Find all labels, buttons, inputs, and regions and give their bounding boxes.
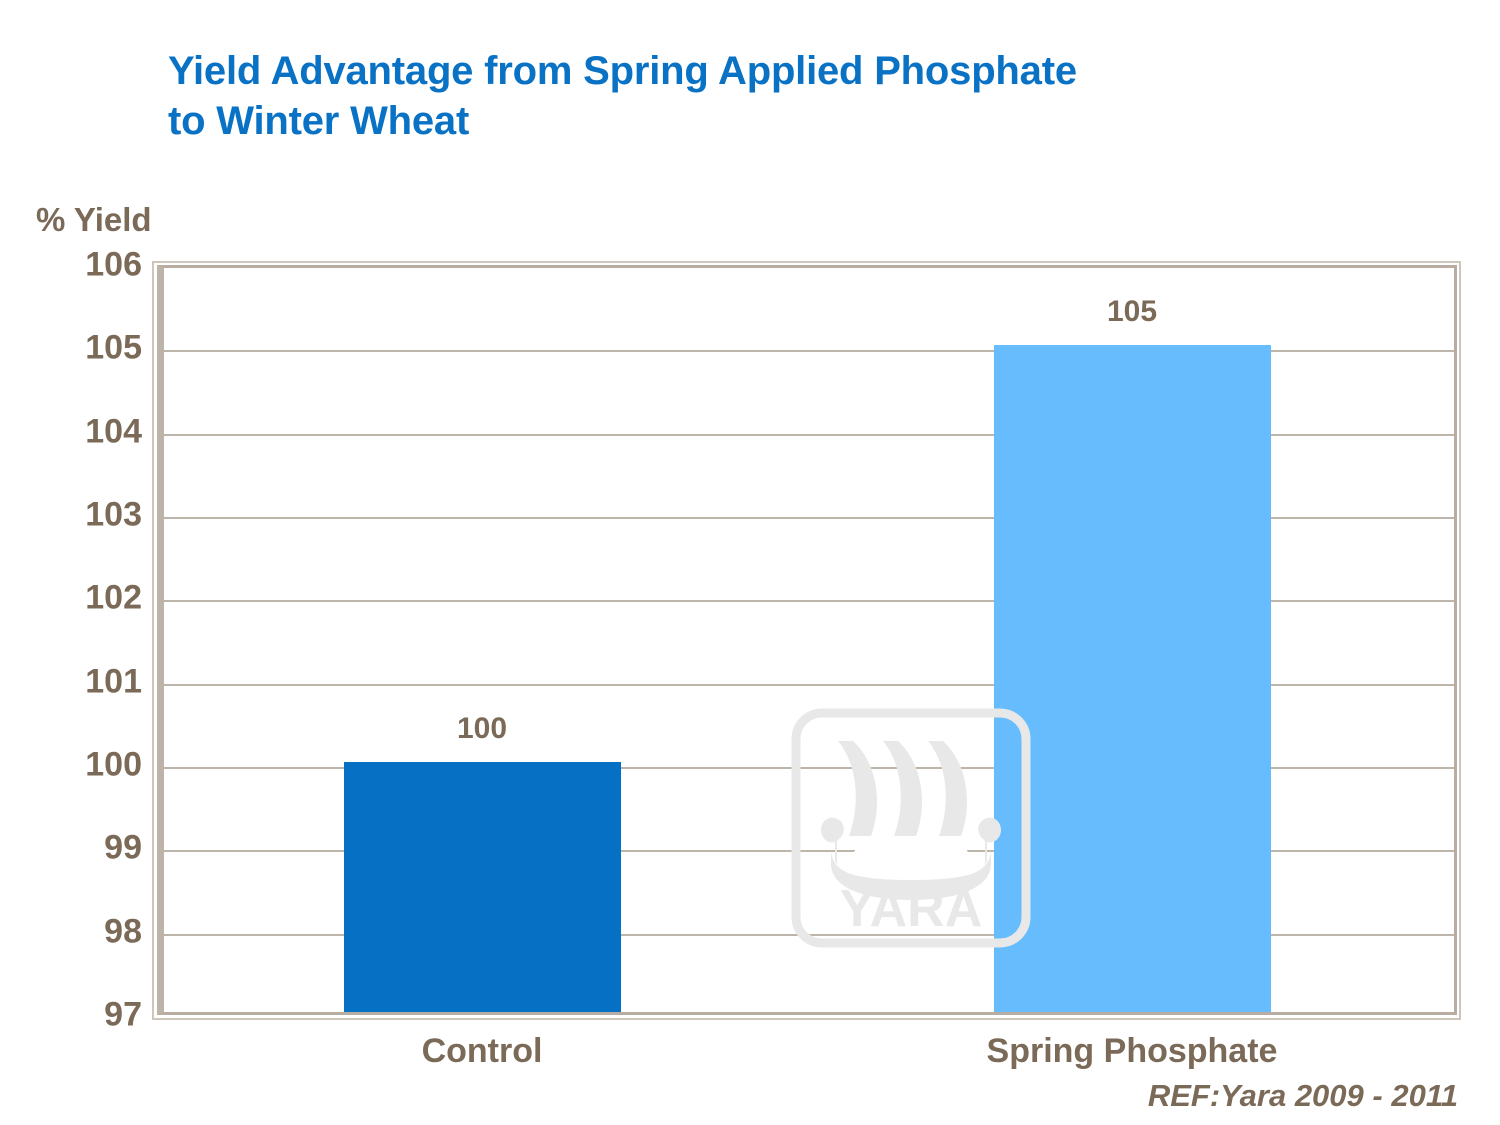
y-axis-tick-label: 103 [32,496,142,535]
x-axis-category-label: Control [422,1032,543,1071]
y-axis-tick-label: 102 [32,579,142,618]
bar-value-label: 100 [457,712,507,746]
bar-control[interactable] [344,762,621,1012]
y-axis-tick-label: 97 [32,996,142,1035]
plot-area: YARA [157,265,1457,1015]
page-title-line-2: to Winter Wheat [168,96,1368,146]
bar-spring-phosphate[interactable] [994,345,1271,1012]
y-axis-tick-label: 98 [32,912,142,951]
y-axis-tick-label: 100 [32,746,142,785]
y-axis-tick-label: 104 [32,412,142,451]
y-axis-tick-label: 99 [32,829,142,868]
x-axis-category-label: Spring Phosphate [987,1032,1278,1071]
page-title: Yield Advantage from Spring Applied Phos… [168,46,1368,146]
yara-wordmark: YARA [840,880,983,938]
y-axis-tick-label: 105 [32,329,142,368]
page-title-line-1: Yield Advantage from Spring Applied Phos… [168,46,1368,96]
y-axis-tick-label: 106 [32,246,142,285]
y-axis-title: % Yield [36,201,152,239]
y-axis-tick-label: 101 [32,662,142,701]
reference-note: REF:Yara 2009 - 2011 [1148,1078,1458,1114]
bar-value-label: 105 [1107,295,1157,329]
